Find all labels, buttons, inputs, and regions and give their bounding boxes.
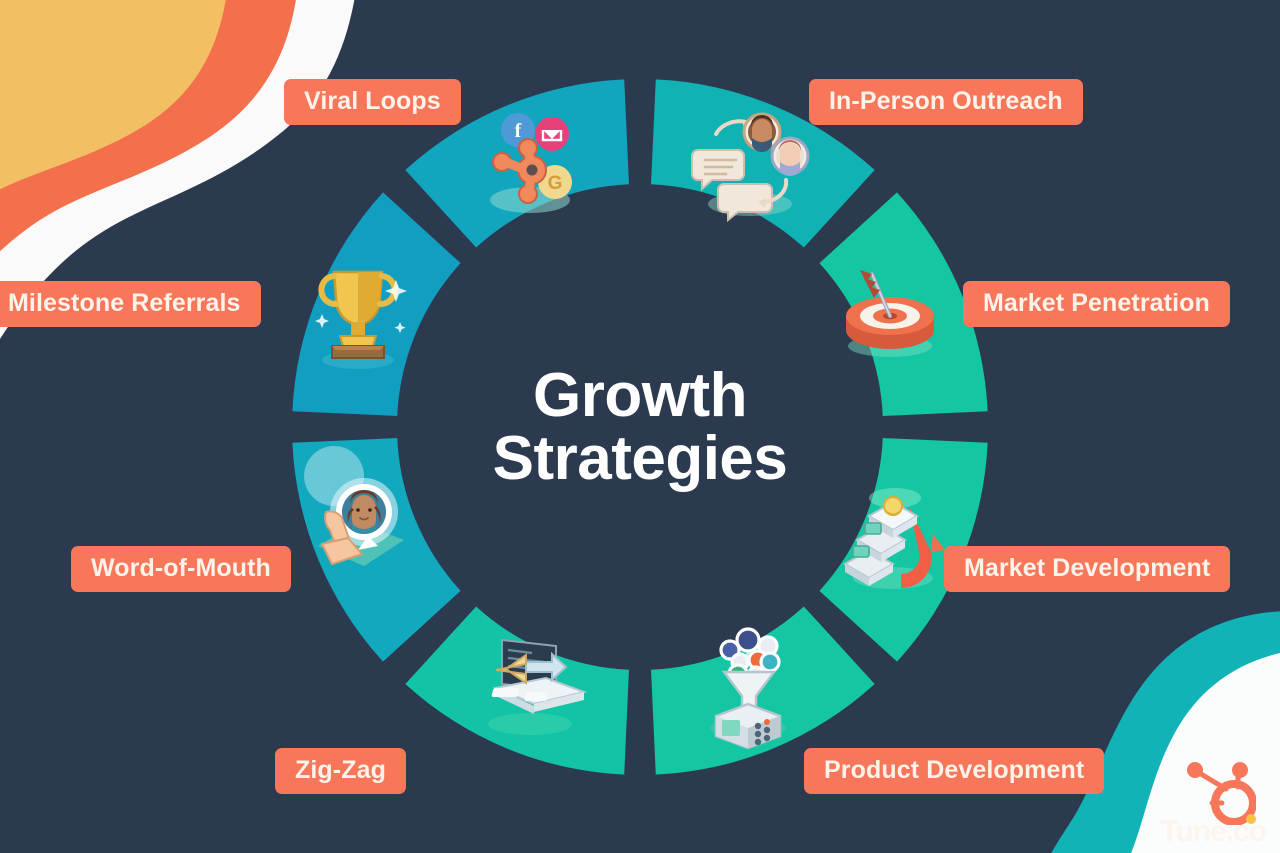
logo-text: Tune.co — [1160, 817, 1266, 847]
label-in-person-outreach[interactable]: In-Person Outreach — [809, 79, 1083, 125]
bottom-right-teal-blob — [1030, 611, 1280, 853]
sprocket-icon — [1182, 759, 1256, 825]
label-zig-zag[interactable]: Zig-Zag — [275, 748, 406, 794]
label-market-development[interactable]: Market Development — [944, 546, 1230, 592]
label-milestone-referrals[interactable]: Milestone Referrals — [0, 281, 261, 327]
label-word-of-mouth[interactable]: Word-of-Mouth — [71, 546, 291, 592]
ring-segment-zig-zag[interactable] — [405, 606, 629, 774]
ring-segment-word-of-mouth[interactable] — [292, 438, 460, 662]
label-market-penetration[interactable]: Market Penetration — [963, 281, 1230, 327]
bottom-right-white-blob — [1104, 648, 1280, 853]
ring-segment-milestone-referrals[interactable] — [292, 192, 460, 416]
growth-strategies-ring — [290, 77, 990, 777]
brand-logo: Tune.co — [1160, 817, 1266, 847]
infographic-canvas: f G — [0, 0, 1280, 853]
top-left-orange-blob — [0, 0, 300, 296]
label-product-development[interactable]: Product Development — [804, 748, 1104, 794]
ring-segments — [290, 77, 990, 777]
label-viral-loops[interactable]: Viral Loops — [284, 79, 461, 125]
top-left-yellow-blob — [0, 0, 230, 212]
